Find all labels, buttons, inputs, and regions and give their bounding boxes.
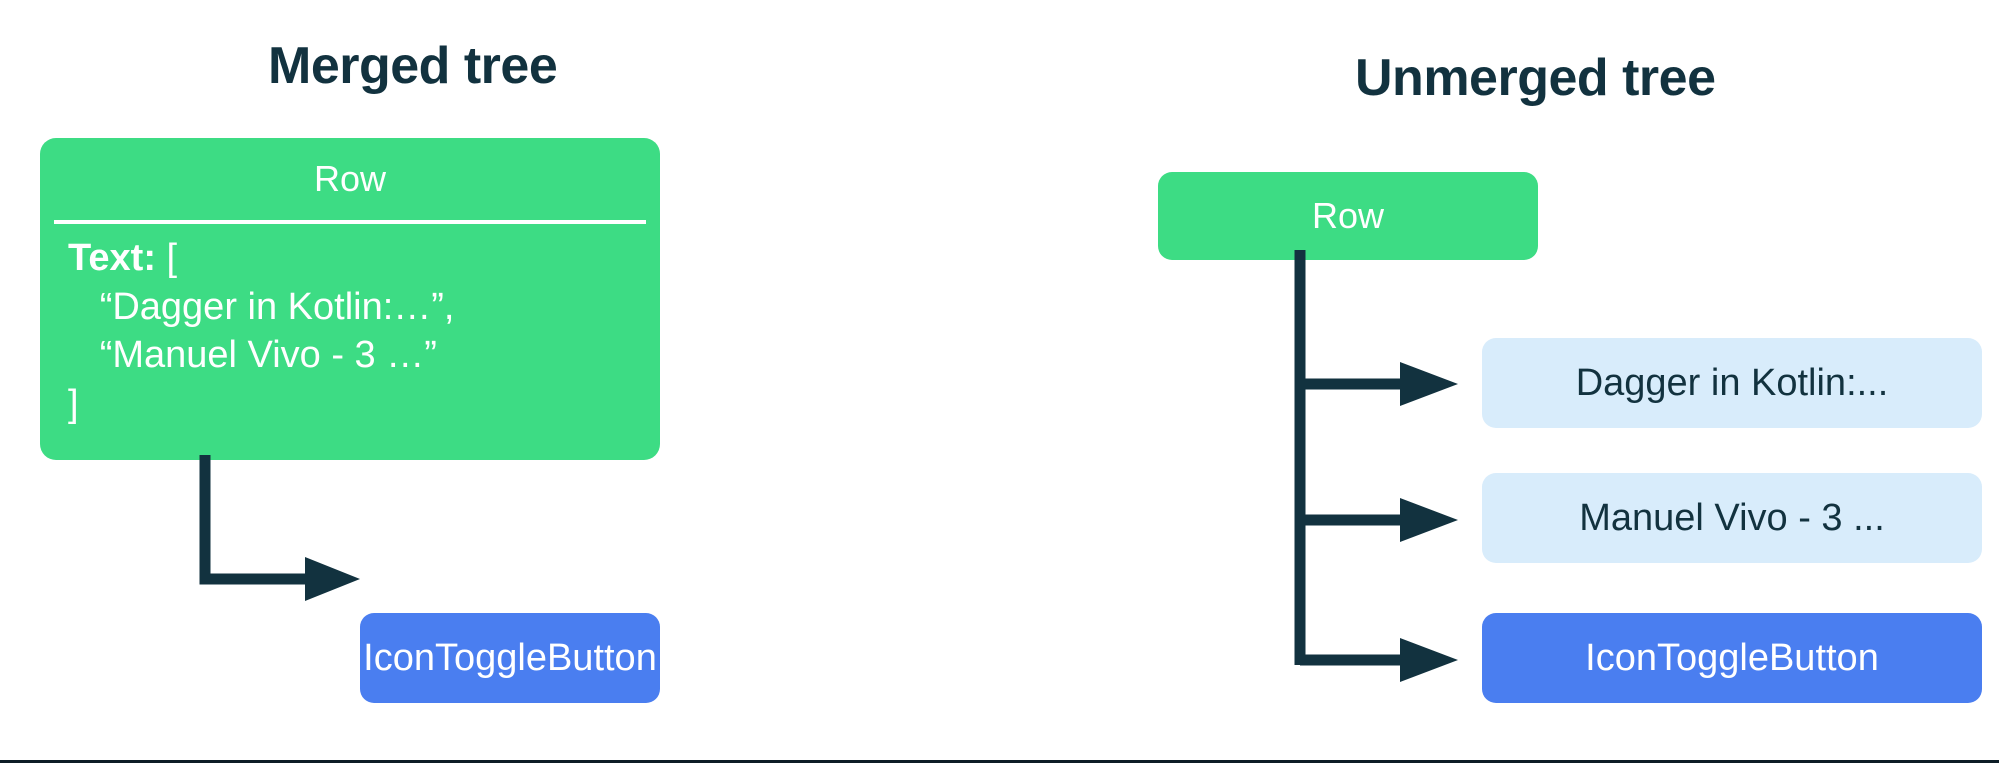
semantics-open-bracket: [ (156, 237, 177, 279)
merged-root-label: Row (40, 138, 660, 220)
semantics-list-item-1: “Manuel Vivo - 3 …” (68, 331, 646, 380)
semantics-close-bracket: ] (68, 380, 646, 429)
unmerged-child-icon-toggle-button: IconToggleButton (1482, 613, 1982, 703)
merged-root-semantics-text: Text: [ “Dagger in Kotlin:…”, “Manuel Vi… (68, 234, 646, 429)
node-divider (54, 220, 646, 224)
unmerged-tree-title: Unmerged tree (1355, 52, 1716, 104)
semantics-list-item-0-text: “Dagger in Kotlin:…”, (100, 286, 455, 328)
unmerged-root-node: Row (1158, 172, 1538, 260)
semantics-property-key: Text: (68, 237, 156, 279)
bottom-divider (0, 760, 1999, 763)
unmerged-child-text-0: Dagger in Kotlin:... (1482, 338, 1982, 428)
merged-child-icon-toggle-button: IconToggleButton (360, 613, 660, 703)
merged-root-node: Row Text: [ “Dagger in Kotlin:…”, “Manue… (40, 138, 660, 460)
semantics-list-item-0: “Dagger in Kotlin:…”, (68, 283, 646, 332)
merged-tree-title: Merged tree (268, 40, 557, 92)
semantics-list-item-1-text: “Manuel Vivo - 3 …” (100, 334, 437, 376)
unmerged-child-text-1: Manuel Vivo - 3 ... (1482, 473, 1982, 563)
semantics-property-line: Text: [ (68, 234, 646, 283)
